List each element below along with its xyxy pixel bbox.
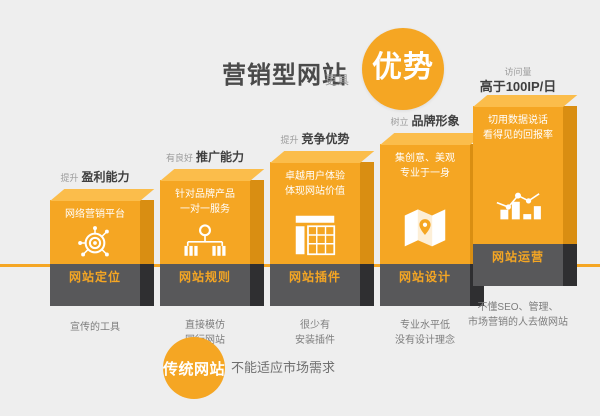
traditional-site-badge-label: 传统网站 [163, 358, 225, 379]
bottom-note: 不能适应市场需求 [231, 357, 335, 376]
column-5-box: 切用数据说话 看得见的回报率 [473, 106, 563, 286]
column-group: 提升盈利能力 网络营销平台 [0, 0, 600, 416]
target-network-icon [50, 224, 140, 262]
column-3-footnote: 很少有 安装插件 [295, 318, 335, 348]
column-1-footnote: 宣传的工具 [70, 320, 120, 335]
traditional-site-badge: 传统网站 [163, 337, 225, 399]
column-5-caption: 访问量高于100IP/日 [480, 66, 557, 96]
column-5-label: 网站运营 [473, 248, 563, 265]
column-3-box-title: 卓越用户体验 体现网站价值 [270, 170, 360, 199]
column-4-caption: 树立品牌形象 [390, 112, 459, 130]
org-chart-icon [160, 220, 250, 262]
column-2-box: 针对品牌产品 一对一服务 [160, 180, 250, 306]
column-4-label: 网站设计 [380, 268, 470, 285]
column-1-label: 网站定位 [50, 268, 140, 285]
column-2-caption: 有良好推广能力 [166, 148, 244, 166]
column-4-box-title: 集创意、美观 专业于一身 [380, 152, 470, 181]
map-pin-icon [380, 200, 470, 254]
column-2-label: 网站规则 [160, 268, 250, 285]
column-3-label: 网站插件 [270, 268, 360, 285]
infographic-canvas: 营销型网站 更具 优势 提升盈利能力 网络营销平台 [0, 0, 600, 416]
column-4-box: 集创意、美观 专业于一身 网站设计 [380, 144, 470, 306]
column-4-footnote: 专业水平低 没有设计理念 [395, 318, 455, 348]
column-1-box-title: 网络营销平台 [50, 208, 140, 223]
column-1-caption: 提升盈利能力 [60, 168, 129, 186]
layout-grid-icon [270, 210, 360, 260]
column-3-caption: 提升竞争优势 [280, 130, 349, 148]
column-5-box-title: 切用数据说话 看得见的回报率 [473, 114, 563, 143]
column-5-footnote: 不懂SEO、管理、 市场营销的人去做网站 [468, 300, 568, 330]
column-1-box: 网络营销平台 [50, 200, 140, 306]
bar-line-chart-icon [473, 170, 563, 230]
column-3-box: 卓越用户体验 体现网站价值 [270, 162, 360, 306]
column-2-box-title: 针对品牌产品 一对一服务 [160, 188, 250, 217]
